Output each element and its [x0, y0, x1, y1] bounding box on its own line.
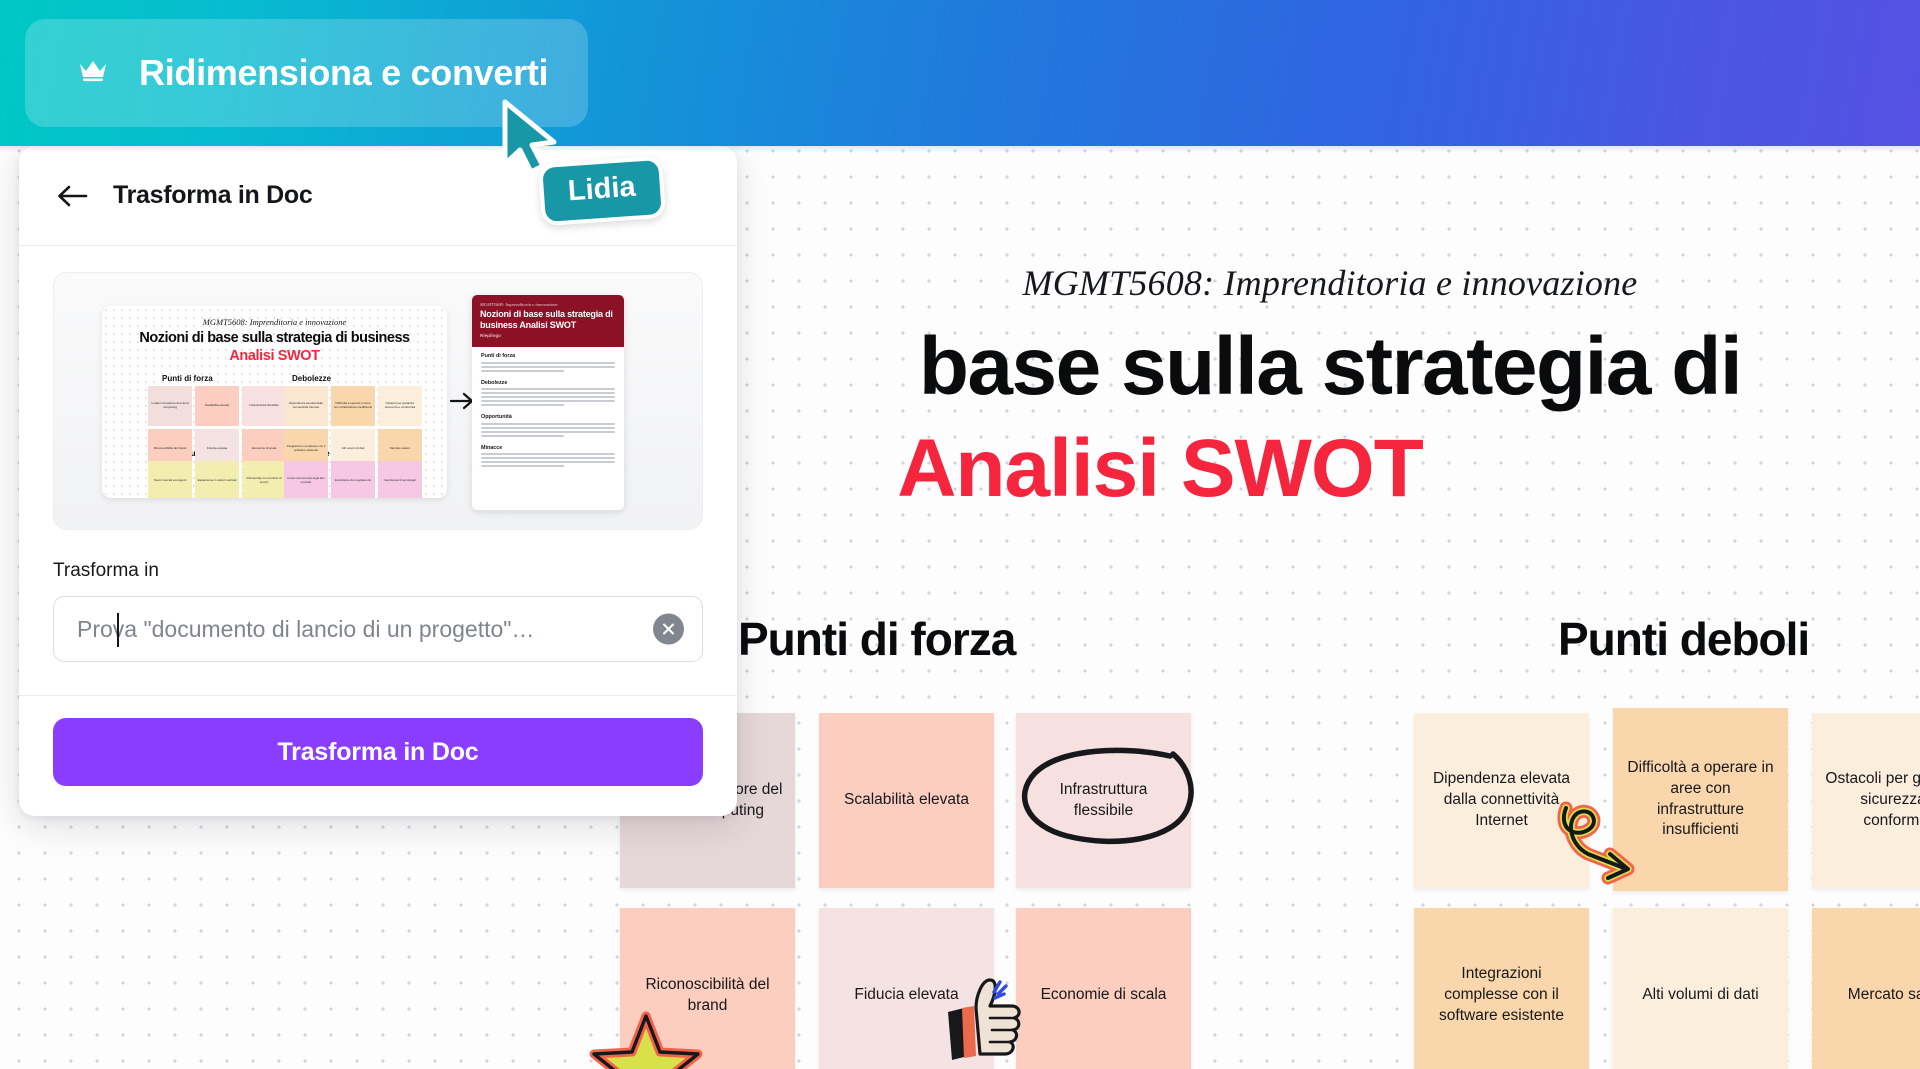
- doc-thumbnail-section-heading: Punti di forza: [481, 353, 615, 359]
- transform-to-field-label: Trasforma in: [53, 560, 703, 582]
- board-thumbnail-note: Nuovi mercati emergenti: [148, 461, 192, 498]
- board-subtitle: Analisi SWOT: [660, 422, 1660, 516]
- sticky-note-text: Difficoltà a operare in aree con infrast…: [1625, 758, 1776, 842]
- sticky-note-text: Alti volumi di dati: [1642, 985, 1758, 1006]
- board-thumbnail-note: Ostacoli per garantire sicurezza e confo…: [378, 386, 422, 426]
- board-column-heading-strengths: Punti di forza: [738, 612, 1015, 666]
- sticky-note-text: Ostacoli per garantire sicurezza e confo…: [1824, 769, 1920, 832]
- board-thumbnail-eyebrow: MGMT5608: Imprenditoria e innovazione: [102, 317, 447, 327]
- panel-footer: Trasforma in Doc: [19, 695, 737, 816]
- doc-thumbnail-section-heading: Opportunità: [481, 414, 615, 420]
- text-caret: [117, 613, 119, 647]
- crown-icon: [77, 58, 109, 88]
- doc-thumbnail-sections: Punti di forzaDebolezzeOpportunitàMinacc…: [472, 347, 624, 467]
- sticky-note[interactable]: Alti volumi di dati: [1613, 908, 1788, 1069]
- board-thumbnail-subtitle: Analisi SWOT: [102, 348, 447, 364]
- board-thumbnail-note: Difficoltà a operare in aree con infrast…: [331, 386, 375, 426]
- doc-thumbnail-text-line: [481, 404, 564, 406]
- sticky-note[interactable]: Integrazioni complesse con il software e…: [1414, 908, 1589, 1069]
- sticky-note[interactable]: Scalabilità elevata: [819, 713, 994, 888]
- doc-thumbnail-text-line: [481, 388, 615, 390]
- app-root: MGMT5608: Imprenditoria e innovazione ba…: [0, 0, 1920, 1069]
- doc-thumbnail-section: Opportunità: [472, 408, 624, 437]
- sticky-note-text: Economie di scala: [1041, 985, 1167, 1006]
- board-thumbnail-note: Infrastruttura flessibile: [242, 386, 286, 426]
- board-thumbnail-col-weaknesses: Debolezze: [292, 374, 331, 383]
- doc-thumbnail-text-line: [481, 435, 564, 437]
- sticky-note-text: Riconoscibilità del brand: [632, 975, 783, 1017]
- board-thumbnail-note: Cambiamenti tecnologici: [378, 461, 422, 498]
- doc-thumbnail-section-heading: Minacce: [481, 445, 615, 451]
- board-eyebrow: MGMT5608: Imprenditoria e innovazione: [830, 262, 1830, 304]
- sticky-note-text: Integrazioni complesse con il software e…: [1426, 964, 1577, 1027]
- doc-thumbnail-text-line: [481, 400, 615, 402]
- board-thumbnail-note: Dipendenza elevata dalla connettività In…: [284, 386, 328, 426]
- sticky-note-text: Dipendenza elevata dalla connettività In…: [1426, 769, 1577, 832]
- doc-thumbnail-section: Debolezze: [472, 374, 624, 407]
- doc-thumbnail-hero: MGMT5608: Imprenditoria e innovazione No…: [472, 295, 624, 347]
- doc-thumbnail-text-line: [481, 362, 615, 364]
- board-title: base sulla strategia di: [660, 320, 1920, 414]
- sticky-note-text: Fiducia elevata: [854, 985, 958, 1006]
- doc-thumbnail-text-line: [481, 423, 615, 425]
- doc-thumbnail-text-line: [481, 427, 615, 429]
- panel-body: MGMT5608: Imprenditoria e innovazione No…: [19, 246, 737, 662]
- doc-thumbnail-eyebrow: MGMT5608: Imprenditoria e innovazione: [480, 302, 616, 307]
- sticky-note[interactable]: Riconoscibilità del brand: [620, 908, 795, 1069]
- doc-thumbnail: MGMT5608: Imprenditoria e innovazione No…: [472, 295, 624, 510]
- doc-thumbnail-section: Punti di forza: [472, 347, 624, 372]
- doc-thumbnail-text-line: [481, 465, 564, 467]
- sticky-note[interactable]: Dipendenza elevata dalla connettività In…: [1414, 713, 1589, 888]
- sticky-note[interactable]: Ostacoli per garantire sicurezza e confo…: [1812, 713, 1920, 888]
- doc-thumbnail-text-line: [481, 396, 615, 398]
- board-thumbnail-note: Leader nel settore del cloud computing: [148, 386, 192, 426]
- board-thumbnail-title: Nozioni di base sulla strategia di busin…: [108, 330, 441, 346]
- doc-thumbnail-text-line: [481, 461, 615, 463]
- sticky-note[interactable]: Economie di scala: [1016, 908, 1191, 1069]
- transform-to-doc-panel: Trasforma in Doc MGMT5608: Imprenditoria…: [19, 146, 737, 816]
- panel-title: Trasforma in Doc: [113, 181, 312, 210]
- sticky-note-text: Scalabilità elevata: [844, 790, 969, 811]
- sticky-note[interactable]: Infrastruttura flessibile: [1016, 713, 1191, 888]
- board-thumbnail-note: Evoluzione dei regolamenti: [331, 461, 375, 498]
- doc-thumbnail-section-heading: Debolezze: [481, 380, 615, 386]
- sticky-note[interactable]: Mercato saturo: [1812, 908, 1920, 1069]
- doc-thumbnail-subtitle: Riepilogo: [480, 333, 616, 338]
- board-thumbnail-col-strengths: Punti di forza: [162, 374, 213, 383]
- board-thumbnail-note: Partnership con fornitori di servizi: [242, 461, 286, 498]
- doc-thumbnail-text-line: [481, 453, 615, 455]
- top-gradient-bar: Ridimensiona e converti: [0, 0, 1920, 146]
- board-thumbnail-note: Espansione in settori verticali: [195, 461, 239, 498]
- back-arrow-icon[interactable]: [55, 179, 89, 213]
- doc-thumbnail-section: Minacce: [472, 439, 624, 468]
- sticky-note-text: Mercato saturo: [1848, 985, 1920, 1006]
- board-thumbnail: MGMT5608: Imprenditoria e innovazione No…: [102, 306, 447, 498]
- resize-and-convert-label: Ridimensiona e converti: [139, 52, 548, 94]
- clear-input-button[interactable]: [653, 614, 684, 645]
- doc-thumbnail-text-line: [481, 366, 615, 368]
- sticky-note[interactable]: Difficoltà a operare in aree con infrast…: [1613, 708, 1788, 891]
- doc-thumbnail-text-line: [481, 392, 615, 394]
- sticky-note[interactable]: Fiducia elevata: [819, 908, 994, 1069]
- doc-thumbnail-title: Nozioni di base sulla strategia di busin…: [480, 309, 616, 330]
- doc-thumbnail-text-line: [481, 457, 615, 459]
- conversion-preview: MGMT5608: Imprenditoria e innovazione No…: [53, 272, 703, 530]
- board-thumbnail-note: Forte concorrenza degli altri provider: [284, 461, 328, 498]
- doc-thumbnail-text-line: [481, 431, 615, 433]
- remote-cursor-icon: [497, 98, 563, 183]
- transform-prompt-input[interactable]: [72, 616, 644, 643]
- transform-prompt-field[interactable]: [53, 596, 703, 662]
- doc-thumbnail-text-line: [481, 370, 564, 372]
- transform-to-doc-button[interactable]: Trasforma in Doc: [53, 718, 703, 786]
- sticky-note-text: Infrastruttura flessibile: [1028, 780, 1179, 822]
- board-thumbnail-note: Scalabilità elevata: [195, 386, 239, 426]
- board-column-heading-weaknesses: Punti deboli: [1558, 612, 1809, 666]
